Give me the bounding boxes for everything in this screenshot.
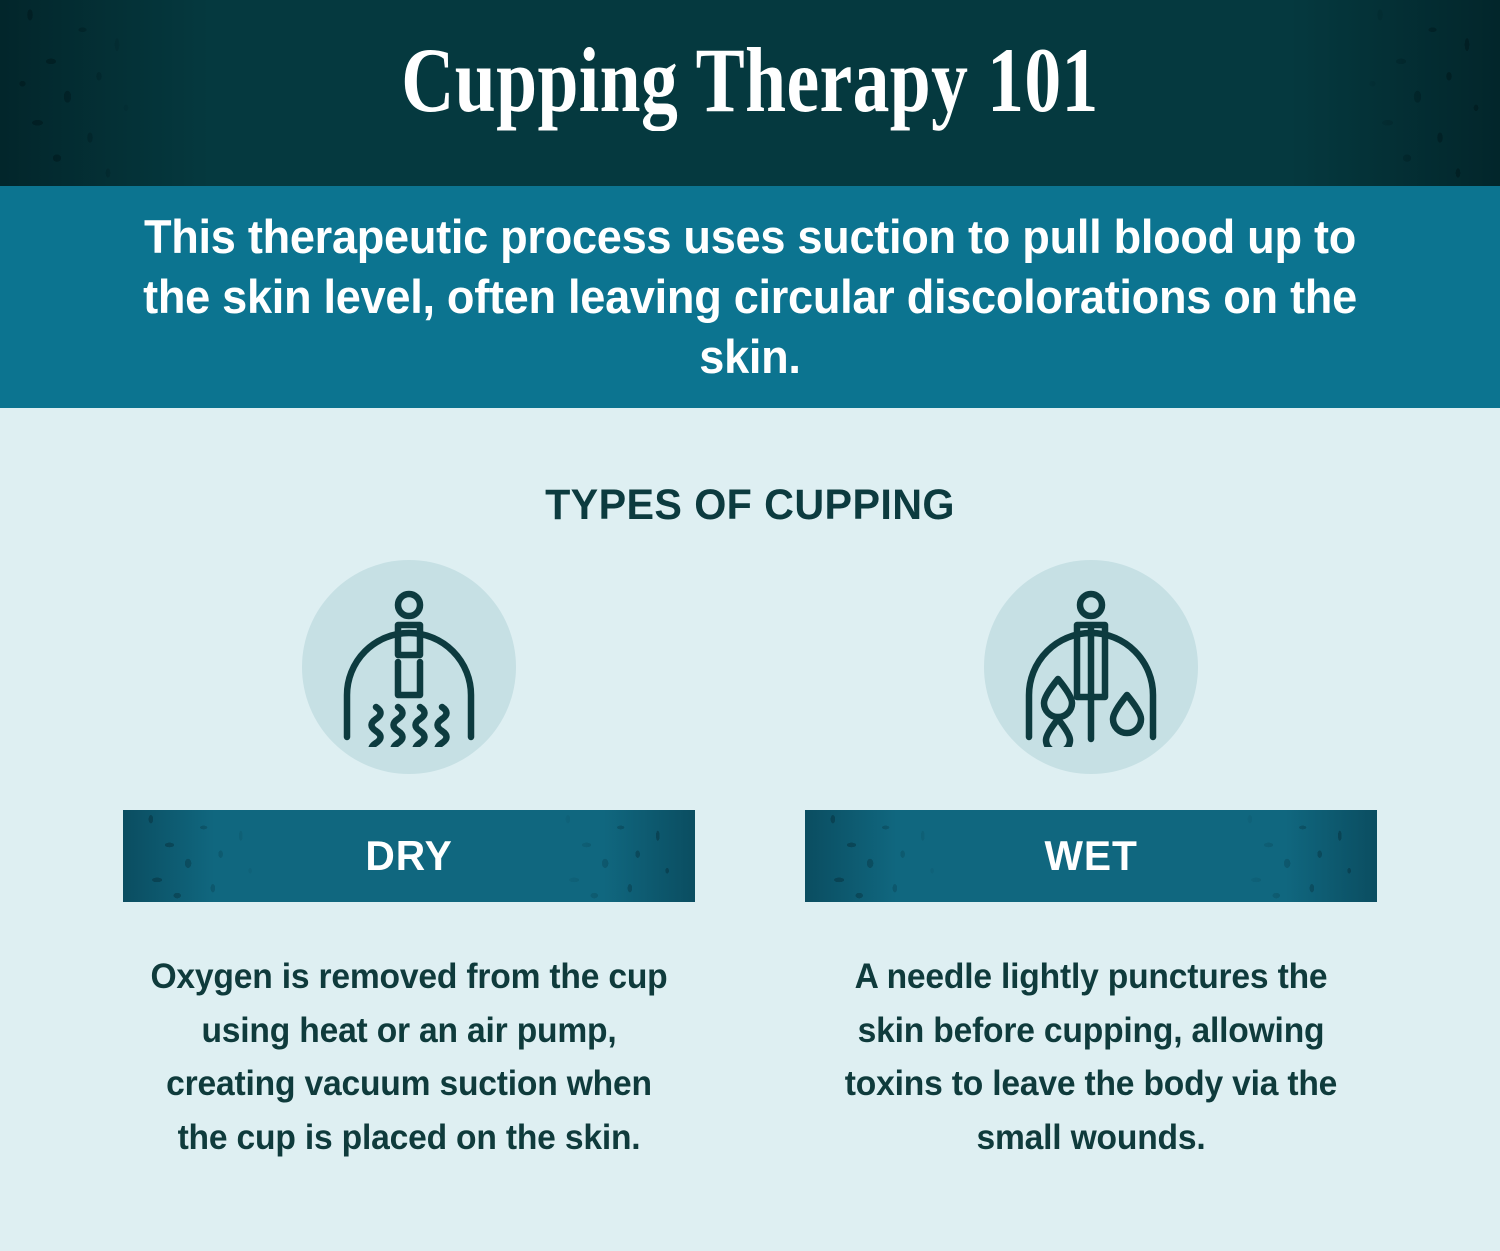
dry-label: DRY [365, 832, 452, 880]
column-wet: WET A needle lightly punctures the skin … [805, 560, 1377, 1164]
wet-label-bar: WET [805, 810, 1377, 902]
subtitle-band: This therapeutic process uses suction to… [0, 186, 1500, 408]
types-columns: DRY Oxygen is removed from the cup using… [0, 560, 1500, 1164]
section-heading: TYPES OF CUPPING [30, 481, 1470, 530]
subtitle-text: This therapeutic process uses suction to… [126, 207, 1374, 387]
infographic-page: Cupping Therapy 101 This therapeutic pro… [0, 0, 1500, 1251]
dry-cupping-icon [329, 587, 489, 747]
dry-label-bar: DRY [123, 810, 695, 902]
wet-cupping-icon [1011, 587, 1171, 747]
dry-description: Oxygen is removed from the cup using hea… [140, 950, 678, 1164]
page-title: Cupping Therapy 101 [150, 34, 1350, 126]
wet-label: WET [1044, 832, 1137, 880]
wet-icon-disc [984, 560, 1198, 774]
wet-description: A needle lightly punctures the skin befo… [822, 950, 1360, 1164]
column-dry: DRY Oxygen is removed from the cup using… [123, 560, 695, 1164]
dry-icon-disc [302, 560, 516, 774]
header-band: Cupping Therapy 101 [0, 0, 1500, 186]
main-content: TYPES OF CUPPING [0, 408, 1500, 1251]
